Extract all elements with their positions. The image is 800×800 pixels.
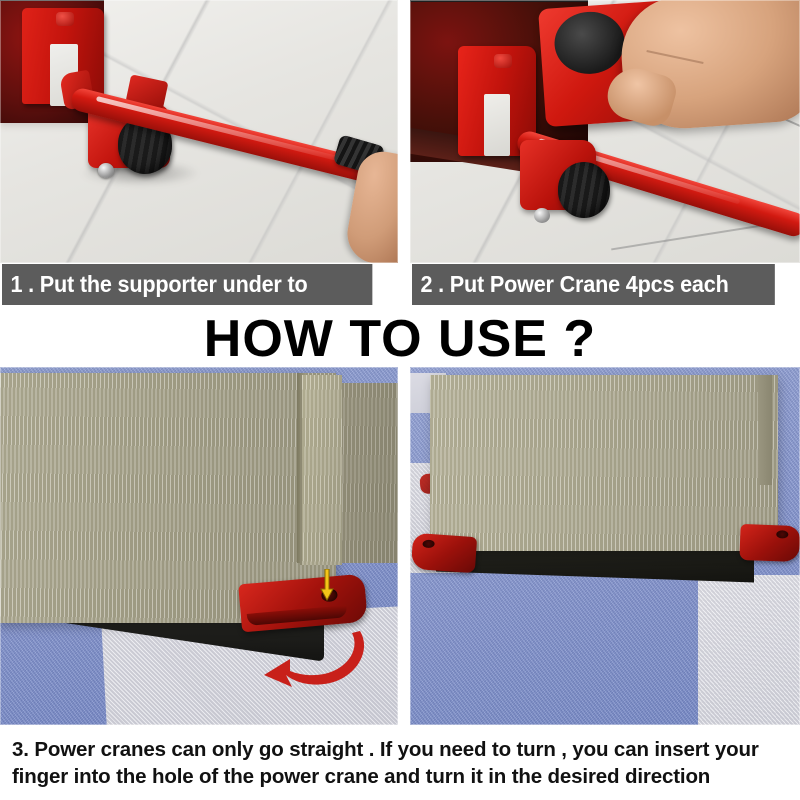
white-carpet-tile: [698, 575, 800, 725]
cabinet-side-panel: [336, 383, 398, 563]
roller-wheel: [558, 162, 610, 218]
cabinet-corner-edge: [758, 375, 772, 485]
cabinet-front-panel: [300, 375, 342, 565]
page-title: HOW TO USE ?: [0, 309, 800, 369]
step-1-caption: 1 . Put the supporter under to: [2, 264, 372, 305]
step-2-photo: [410, 0, 800, 263]
wheel-axle-bolt: [534, 208, 550, 223]
bracket-bolt: [56, 12, 74, 26]
power-crane-right: [739, 524, 800, 562]
bracket-bolt: [494, 54, 512, 68]
crane-lip: [247, 605, 348, 626]
turn-direction-rotate-arrow-icon: [256, 625, 376, 707]
wheel-axle-bolt: [98, 163, 114, 178]
step-2-caption: 2 . Put Power Crane 4pcs each: [412, 264, 775, 305]
step-1-photo: [0, 0, 398, 263]
step-3-photo-right: [410, 367, 800, 725]
wood-cabinet: [430, 375, 778, 551]
power-crane-left: [411, 533, 477, 573]
step-3-description: 3. Power cranes can only go straight . I…: [12, 736, 794, 790]
infographic-page: 1 . Put the supporter under to 2 . Put P…: [0, 0, 800, 800]
crane-rubber-pad: [552, 10, 626, 77]
bracket-notch: [484, 94, 510, 156]
insert-finger-down-arrow-icon: [320, 569, 334, 601]
crane-finger-hole: [422, 540, 434, 548]
step-3-photo-left: [0, 367, 398, 725]
crane-finger-hole: [776, 530, 788, 538]
